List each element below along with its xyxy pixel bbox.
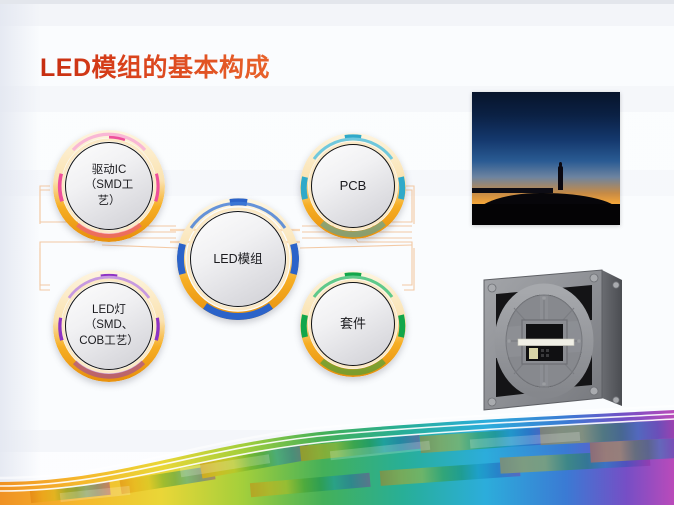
diagram-node-center-led-module[interactable]: LED模组 [177, 198, 299, 320]
kit-label: 套件 [334, 315, 372, 333]
diagram-node-kit[interactable]: 套件 [300, 271, 406, 377]
driver-ic-label-disc: 驱动IC （SMD工 艺） [65, 142, 153, 230]
led-lamp-line-1: LED灯 [92, 304, 126, 316]
diagram-node-pcb[interactable]: PCB [300, 133, 406, 239]
sunset-figure-silhouette [558, 166, 563, 190]
sunset-ground-base [472, 204, 620, 225]
led-lamp-line-3: COB工艺） [79, 335, 138, 347]
footer-rainbow-wave [0, 390, 674, 505]
driver-ic-line-1: 驱动IC [92, 164, 127, 176]
driver-ic-line-3: 艺） [98, 195, 121, 207]
slide-canvas: LED模组的基本构成 [0, 0, 674, 505]
pcb-label: PCB [334, 177, 373, 195]
led-module-label-disc: LED模组 [190, 211, 286, 307]
led-module-label: LED模组 [207, 251, 268, 268]
driver-ic-line-2: （SMD工 [85, 179, 134, 191]
diagram-node-driver-ic[interactable]: 驱动IC （SMD工 艺） [53, 130, 165, 242]
diagram-node-led-lamp[interactable]: LED灯 （SMD、 COB工艺） [53, 270, 165, 382]
sunset-photo [472, 92, 620, 225]
background-top-strip [0, 0, 674, 4]
kit-label-disc: 套件 [311, 282, 395, 366]
led-lamp-label-disc: LED灯 （SMD、 COB工艺） [65, 282, 153, 370]
page-title: LED模组的基本构成 [40, 48, 270, 84]
pcb-label-disc: PCB [311, 144, 395, 228]
led-lamp-line-2: （SMD、 [85, 319, 134, 331]
